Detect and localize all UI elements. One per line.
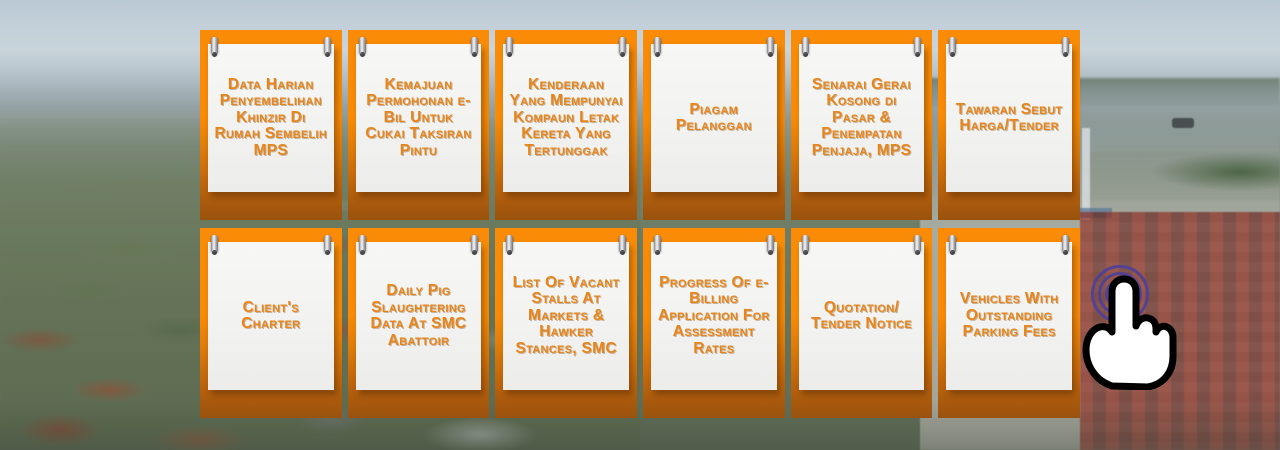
tile-6[interactable]: Tawaran Sebut Harga/Tender <box>938 30 1080 220</box>
paper-clip-icon <box>914 37 921 54</box>
paper-clip-icon <box>211 37 218 54</box>
tile-card[interactable]: Data Harian Penyembelihan Khinzir Di Rum… <box>208 44 334 192</box>
paper-clip-icon <box>471 235 478 252</box>
paper-clip-icon <box>211 235 218 252</box>
tile-12[interactable]: Vehicles With Outstanding Parking Fees <box>938 228 1080 418</box>
tile-label: Client's Charter <box>214 300 328 333</box>
tile-card[interactable]: Kemajuan Permohonan e-Bil Untuk Cukai Ta… <box>356 44 482 192</box>
tile-card[interactable]: Quotation/ Tender Notice <box>799 242 925 390</box>
tile-label: Data Harian Penyembelihan Khinzir Di Rum… <box>214 77 328 160</box>
tile-card[interactable]: Senarai Gerai Kosong di Pasar & Penempat… <box>799 44 925 192</box>
paper-clip-icon <box>506 37 513 54</box>
tile-label: Senarai Gerai Kosong di Pasar & Penempat… <box>805 77 919 160</box>
paper-clip-icon <box>767 37 774 54</box>
page-root: Data Harian Penyembelihan Khinzir Di Rum… <box>0 0 1280 450</box>
tile-label: Daily Pig Slaughtering Data At SMC Abatt… <box>362 283 476 349</box>
tile-row-1: Data Harian Penyembelihan Khinzir Di Rum… <box>200 30 1080 220</box>
tile-8[interactable]: Daily Pig Slaughtering Data At SMC Abatt… <box>348 228 490 418</box>
tile-1[interactable]: Data Harian Penyembelihan Khinzir Di Rum… <box>200 30 342 220</box>
background-port-crane <box>1082 128 1090 220</box>
tile-4[interactable]: Piagam Pelanggan <box>643 30 785 220</box>
tile-label: Kemajuan Permohonan e-Bil Untuk Cukai Ta… <box>362 77 476 160</box>
paper-clip-icon <box>619 235 626 252</box>
paper-clip-icon <box>471 37 478 54</box>
paper-clip-icon <box>914 235 921 252</box>
paper-clip-icon <box>619 37 626 54</box>
tile-row-2: Client's Charter Daily Pig Slaughtering … <box>200 228 1080 418</box>
tile-grid: Data Harian Penyembelihan Khinzir Di Rum… <box>200 30 1080 418</box>
tile-3[interactable]: Kenderaan Yang Mempunyai Kompaun Letak K… <box>495 30 637 220</box>
background-boat <box>1172 118 1194 128</box>
paper-clip-icon <box>359 37 366 54</box>
paper-clip-icon <box>324 37 331 54</box>
tile-card[interactable]: Piagam Pelanggan <box>651 44 777 192</box>
tile-2[interactable]: Kemajuan Permohonan e-Bil Untuk Cukai Ta… <box>348 30 490 220</box>
tile-card[interactable]: Vehicles With Outstanding Parking Fees <box>946 242 1072 390</box>
tile-11[interactable]: Quotation/ Tender Notice <box>791 228 933 418</box>
paper-clip-icon <box>324 235 331 252</box>
tile-label: Piagam Pelanggan <box>657 102 771 135</box>
tile-label: Tawaran Sebut Harga/Tender <box>952 102 1066 135</box>
paper-clip-icon <box>506 235 513 252</box>
tile-10[interactable]: Progress Of e-Billing Application For As… <box>643 228 785 418</box>
paper-clip-icon <box>802 235 809 252</box>
paper-clip-icon <box>1062 235 1069 252</box>
tile-label: Progress Of e-Billing Application For As… <box>657 275 771 358</box>
tile-card[interactable]: Kenderaan Yang Mempunyai Kompaun Letak K… <box>503 44 629 192</box>
tile-5[interactable]: Senarai Gerai Kosong di Pasar & Penempat… <box>791 30 933 220</box>
tile-card[interactable]: Tawaran Sebut Harga/Tender <box>946 44 1072 192</box>
background-headland <box>1090 152 1280 200</box>
tile-label: Kenderaan Yang Mempunyai Kompaun Letak K… <box>509 77 623 160</box>
tile-label: Vehicles With Outstanding Parking Fees <box>952 291 1066 341</box>
tile-label: List Of Vacant Stalls At Markets & Hawke… <box>509 275 623 358</box>
paper-clip-icon <box>949 37 956 54</box>
tile-card[interactable]: Progress Of e-Billing Application For As… <box>651 242 777 390</box>
paper-clip-icon <box>767 235 774 252</box>
tile-card[interactable]: List Of Vacant Stalls At Markets & Hawke… <box>503 242 629 390</box>
tile-card[interactable]: Daily Pig Slaughtering Data At SMC Abatt… <box>356 242 482 390</box>
paper-clip-icon <box>802 37 809 54</box>
paper-clip-icon <box>1062 37 1069 54</box>
tile-7[interactable]: Client's Charter <box>200 228 342 418</box>
tile-card[interactable]: Client's Charter <box>208 242 334 390</box>
paper-clip-icon <box>654 37 661 54</box>
paper-clip-icon <box>654 235 661 252</box>
tile-label: Quotation/ Tender Notice <box>805 300 919 333</box>
tile-9[interactable]: List Of Vacant Stalls At Markets & Hawke… <box>495 228 637 418</box>
paper-clip-icon <box>949 235 956 252</box>
paper-clip-icon <box>359 235 366 252</box>
